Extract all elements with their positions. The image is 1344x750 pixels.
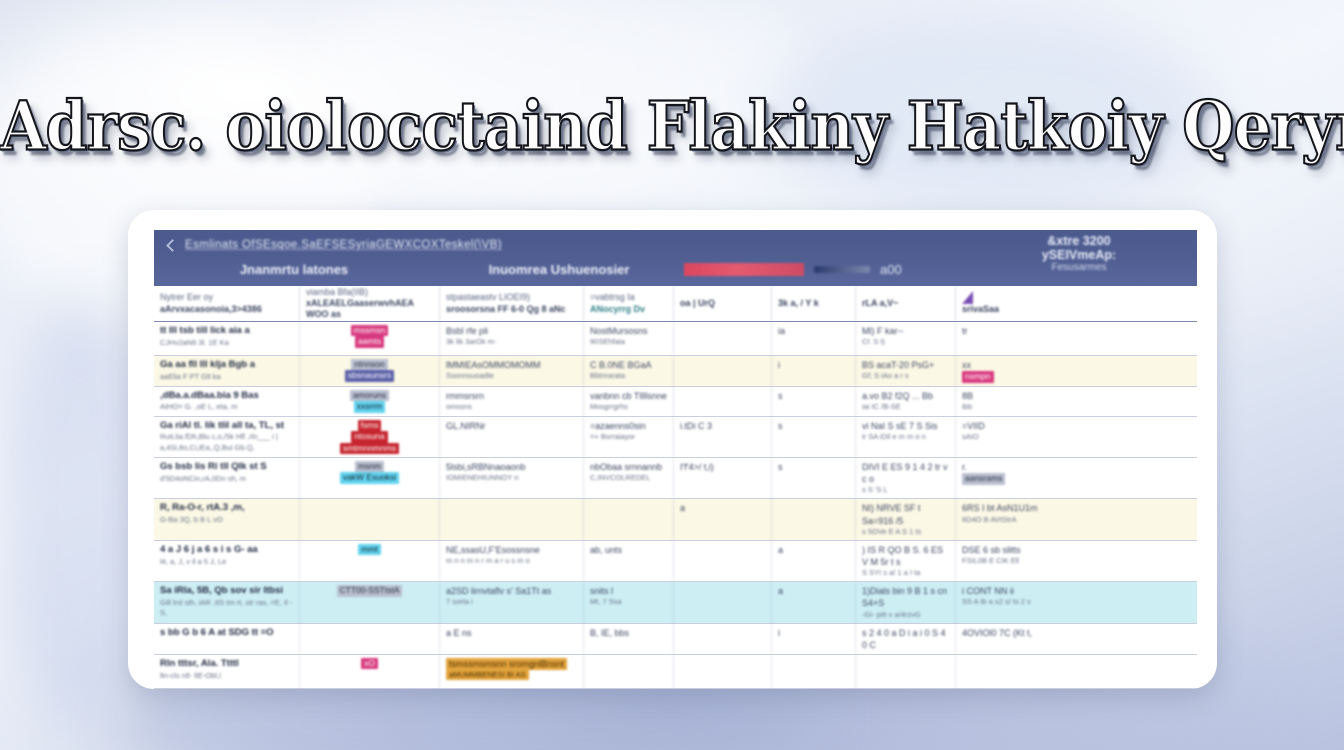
cell-highlight-chip: amoruns [350,390,389,401]
table-cell: NE,ssasU,F'Esossnsnem n n m n r m a r u … [440,541,584,581]
header-info-line1: &xtre 3200 [979,234,1179,248]
table-cell: r.aansrams [956,458,1096,498]
cell-highlight-chip: nsmpn [962,371,994,382]
cell-secondary-text: 6D4O B AVtStrA [962,515,1090,525]
table-row[interactable]: Ga riAl tl. lik tlil all ta, TL, stRuti,… [154,417,1197,458]
cell-primary-text: 5lsbi,sRBNnaoaonb [446,461,577,473]
table-cell: s [772,417,856,457]
cell-primary-text: DSE 6 sb slitts [962,544,1090,556]
column-header-1[interactable]: viamba Bfa(IIB)xALEAELGaaserwvhAEA WOO a… [300,286,440,321]
table-row[interactable]: s bb G b 6 A at SDG tt =Oa E nsB, IE, bb… [154,624,1197,655]
background-glow-2 [300,0,820,210]
column-header-3[interactable]: =vabtrsg IaANocyrrg Dv [584,286,674,321]
table-cell: Rln tttsr, Ala. Ttttlltn-cls ntl- ltE-Ob… [154,655,300,688]
cell-secondary-text: 3k lik 3arOk m- [446,337,577,347]
cell-primary-text: rmmsrsrn [446,390,577,402]
table-cell [584,499,674,539]
cell-primary-text: vanbnn cb Tllllsnne [590,390,667,402]
table-cell: 8Bibb [956,387,1096,416]
badge-progress-bar [814,266,870,273]
table-cell [674,387,772,416]
table-cell: i.tDi C 3 [674,417,772,457]
table-cell [674,624,772,654]
table-row[interactable]: 4 a J 6 j a 6 s i s G- aal4, a, J, v il … [154,541,1197,582]
column-header-line2: sroosorsna FF 6-0 Qg 8 aNc [446,304,577,315]
table-cell [674,582,772,622]
column-header-line2: srivaSaa [962,304,1090,315]
cell-highlight-chip: smtmnnmnms [340,443,399,454]
badge-value: a00 [880,262,902,277]
table-cell: nbObaa srnnannbC,INVCOLREDEL [584,458,674,498]
page-title: Adrsc. oiolocctaind Flakiny Hatkoiy Qery… [0,88,1344,166]
cell-secondary-text: IOMIENEHIUNNOY n [446,473,577,483]
cell-primary-text: NE,ssasU,F'Esossnsne [446,544,577,556]
column-header-line2: xALEAELGaaserwvhAEA WOO as [306,298,433,321]
cell-secondary-text: aMUMMBENESI BI AS [446,670,577,680]
cell-secondary-text: sAIO [962,432,1090,442]
table-cell: a [674,499,772,539]
cell-primary-text: Ga riAl tl. lik tlil all ta, TL, st [160,420,293,433]
table-cell: Gs bsb lis Ri tll QIk st Sd'5D4oNCin,rA,… [154,458,300,498]
table-cell: xO [300,655,440,688]
cell-secondary-text: Gf; S iAo a r s [862,371,949,381]
cell-primary-text: Gs bsb lis Ri tll QIk st S [160,461,293,474]
table-cell: NI) NRVE SF t Sa=916 /5s 5OVe E A S 1 ts [856,499,956,539]
cell-primary-text: i [778,627,849,639]
cell-secondary-text: CJHv2aN6 3l. 1E Ka [160,338,293,348]
cell-highlight-chip: mmt [358,544,381,555]
table-cell: R, Ra-O-r, rtA.3 ,m,G-Ba 3Q, b B L vO [154,499,300,539]
cell-highlight-chip: sbsnaunsrs [345,370,394,381]
cell-primary-text: ia [778,325,849,337]
table-cell: ,dBa.a.dBaa.bia 9 BasAtHO= G. ,oE L, eta… [154,387,300,416]
background-glow-3 [760,10,1220,220]
cell-primary-text: vi NaI S sE 7 S Sis [862,420,949,432]
cell-secondary-text: s S 'S L [862,485,949,495]
table-cell: ab, unts [584,541,674,581]
table-row[interactable]: Ga aa fll lll klja Bgb aaaElia F PT Glt … [154,356,1197,387]
cell-secondary-text: Gill lrsl sth, iAR ,ttS tm rt, str ras, … [160,598,293,618]
cell-primary-text: xx [962,359,1090,371]
column-header-line2: 3k a, / Y k [778,298,849,309]
cell-primary-text: NI) NRVE SF t Sa=916 /5 [862,502,949,526]
header-info-line2: ySEIVmeAp: [979,248,1179,262]
column-header-4[interactable]: oa | UrQ [674,286,772,321]
table-cell: s bb G b 6 A at SDG tt =O [154,624,300,654]
table-cell: a [772,541,856,581]
table-cell: snits lMt, 7 Ssa [584,582,674,622]
cell-secondary-text: 7 sorta i [446,597,577,607]
table-cell: BS acaT-20 PsG+Gf; S iAo a r s [856,356,956,386]
cell-secondary-text: l4, a, J, v il a 5 J, Le [160,557,293,567]
card-inner: Esmlinats OfSEsqoe.SaEFSESyriaGEWXCOXTes… [154,230,1197,673]
column-header-line2: rLA a,V~ [862,298,949,309]
table-cell: msnmvakW Esuoksi [300,458,440,498]
table-cell: GL.NIRNr [440,417,584,457]
table-cell: i [772,624,856,654]
cell-secondary-text: m n n m n r m a r u s m o [446,556,577,566]
table-cell [674,541,772,581]
cell-primary-text: B, IE, bbs [590,627,667,639]
table-cell [772,655,856,688]
app-header-bar: Esmlinats OfSEsqoe.SaEFSESyriaGEWXCOXTes… [154,230,1197,286]
table-cell: a [772,582,856,622]
table-cell [300,499,440,539]
table-cell: mssmsnaamts [300,322,440,355]
table-row[interactable]: R, Ra-O-r, rtA.3 ,m,G-Ba 3Q, b B L vOaNI… [154,499,1197,540]
cell-primary-text: DIVI E ES 9 1 4 2 tr v c o [862,461,949,485]
table-cell: NostMursosns90SEhfata [584,322,674,355]
cell-secondary-text: G-Ba 3Q, b B L vO [160,515,293,525]
cell-primary-text: NostMursosns [590,325,667,337]
table-cell: 4OVIOl0 7C (Kt t, [956,624,1096,654]
cell-primary-text: a.vo B2 f2Q ... Bb [862,390,949,402]
table-cell: a2SD lirnvtaflv s' Sa1Tt as7 sorta i [440,582,584,622]
table-cell: Ga riAl tl. lik tlil all ta, TL, stRuti,… [154,417,300,457]
cell-secondary-text: ltn-cls ntl- ltE-Obl,I [160,671,293,681]
cell-primary-text: 1)Dials bin 9 B 1 s cn S4+S [862,585,949,609]
cell-primary-text: 8B [962,390,1090,402]
table-row[interactable]: tt Ill tsb till lick aia aCJHv2aN6 3l. 1… [154,322,1197,356]
column-header-line2: ANocyrrg Dv [590,304,667,315]
table-row[interactable]: Rln tttsr, Ala. Ttttlltn-cls ntl- ltE-Ob… [154,655,1197,689]
table-cell: lMMIEAsOMMOMOMMSsonnsuoadte [440,356,584,386]
cell-primary-text: lMMIEAsOMMOMOMM [446,359,577,371]
table-cell [956,655,1096,688]
column-header-2[interactable]: stpastaeastv LIOEI9)sroosorsna FF 6-0 Qg… [440,286,584,321]
table-cell [440,499,584,539]
breadcrumb[interactable]: Esmlinats OfSEsqoe.SaEFSESyriaGEWXCOXTes… [185,239,502,251]
table-cell: tt Ill tsb till lick aia aCJHv2aN6 3l. 1… [154,322,300,355]
cell-highlight-chip: aamts [355,336,384,347]
cell-secondary-text: ibb [962,402,1090,412]
cell-primary-text: s [778,420,849,432]
cell-primary-text: =azaenns0sin [590,420,667,432]
cell-secondary-text: Ssonnsuoadte [446,371,577,381]
cell-primary-text: ab, unts [590,544,667,556]
column-header-line1: viamba Bfa(IIB) [306,287,433,298]
table-cell: Sa iRla, 5B, Qb sov sir ltbsiGill lrsl s… [154,582,300,622]
table-cell: vanbnn cb TllllsnneMosgrrgrhs [584,387,674,416]
cell-secondary-text: Cl: S t) [862,337,949,347]
cell-primary-text: Ga aa fll lll klja Bgb a [160,359,293,372]
cell-highlight-chip: aansrams [962,473,1005,484]
cell-secondary-text: Mt, 7 Ssa [590,597,667,607]
cell-primary-text: a2SD lirnvtaflv s' Sa1Tt as [446,585,577,597]
cell-primary-text: s 2 4 0 a D i a i 0 S 4 0 C [862,627,949,651]
cell-secondary-text: d'5D4oNCin,rA,0Dn sh, m [160,474,293,484]
table-cell: B, IE, bbs [584,624,674,654]
table-cell: s 2 4 0 a D i a i 0 S 4 0 C [856,624,956,654]
table-cell [772,499,856,539]
cell-secondary-text: =+ Bsrraiayor [590,432,667,442]
column-header-line1: =vabtrsg Ia [590,292,667,303]
table-cell: i CONT NN iiSS A Ib a s2 s/ ts 2 v [956,582,1096,622]
cell-primary-text: r. [962,461,1090,473]
table-cell [300,624,440,654]
cell-secondary-text: AtHO= G. ,oE L, eta, m [160,402,293,412]
table-column-headers: Nytrer Eer oyaArvxacasonoia,3>4386viamba… [154,286,1197,322]
cell-secondary-text: ir SA iDil e m m o n [862,432,949,442]
cell-secondary-text: FSIL0B E CIK Ell [962,556,1090,566]
cell-primary-text: a [778,585,849,597]
status-badge[interactable] [684,263,804,276]
cell-primary-text: 6RS I bt AsN1U1m [962,502,1090,514]
column-header-7[interactable]: srivaSaa [956,286,1096,321]
column-header-0[interactable]: Nytrer Eer oyaArvxacasonoia,3>4386 [154,286,300,321]
cell-primary-text: Bsbl rfe pli [446,325,577,337]
header-badge-slot: a00 [684,262,914,277]
cell-primary-text: snits l [590,585,667,597]
table-cell: =azaenns0sin=+ Bsrraiayor [584,417,674,457]
table-cell: DSE 6 sb slittsFSIL0B E CIK Ell [956,541,1096,581]
triangle-sort-icon [962,291,973,304]
table-cell [674,655,772,688]
table-cell: a.vo B2 f2Q ... Bbiai IC /B-SE [856,387,956,416]
table-cell [856,655,956,688]
cell-secondary-text: Bbtnrarata [590,371,667,381]
data-table: Nytrer Eer oyaArvxacasonoia,3>4386viamba… [154,286,1197,689]
table-cell [584,655,674,688]
cell-highlight-chip: CTT00-SSTtstA [337,585,403,596]
table-cell: 5lsbi,sRBNnaoaonbIOMIENEHIUNNOY n [440,458,584,498]
cell-primary-text: i CONT NN ii [962,585,1090,597]
cell-primary-text: Ml) F kar-- [862,325,949,337]
cell-primary-text: a E ns [446,627,577,639]
table-row[interactable]: Sa iRla, 5B, Qb sov sir ltbsiGill lrsl s… [154,582,1197,623]
column-header-5[interactable]: 3k a, / Y k [772,286,856,321]
cell-primary-text: R, Ra-O-r, rtA.3 ,m, [160,502,293,515]
table-cell [674,356,772,386]
table-cell: Ml) F kar--Cl: S t) [856,322,956,355]
page-title-wrap: Adrsc. oiolocctaind Flakiny Hatkoiy Qery… [0,92,1344,162]
cell-primary-text: ,dBa.a.dBaa.bia 9 Bas [160,390,293,403]
table-cell: amorunsxxsrrm [300,387,440,416]
table-row[interactable]: ,dBa.a.dBaa.bia 9 BasAtHO= G. ,oE L, eta… [154,387,1197,417]
table-cell: =VIIDsAIO [956,417,1096,457]
table-cell [674,322,772,355]
cell-secondary-text: -Gi- pitt v a/4rzvG [862,610,949,620]
cell-highlight-chip: msnm [355,461,384,472]
column-header-6[interactable]: rLA a,V~ [856,286,956,321]
cell-primary-text: s [778,461,849,473]
table-cell: C B.0NE BGaABbtnrarata [584,356,674,386]
column-header-line1: Nytrer Eer oy [160,292,293,303]
cell-primary-text: i [778,359,849,371]
cell-secondary-text: 90SEhfata [590,337,667,347]
column-header-line2: aArvxacasonoia,3>4386 [160,304,293,315]
cell-primary-text: tr [962,325,1090,337]
table-cell: fsmsntosunasmtmnnmnms [300,417,440,457]
column-header-line2: oa | UrQ [680,298,765,309]
cell-secondary-text: Ruti,lia.fDh,Blu c,o,/5k Hfl ,rln___ i |… [160,432,293,452]
cell-highlight-chip: ntosuna [351,431,387,442]
cell-highlight-chip: ntnnson [351,359,387,370]
cell-primary-text: tt Ill tsb till lick aia a [160,325,293,338]
column-header-line1: stpastaeastv LIOEI9) [446,292,577,303]
cell-primary-text: i.tDi C 3 [680,420,765,432]
cell-highlight-chip: vakW Esuoksi [340,472,399,483]
cell-primary-text: a [680,502,765,514]
cell-primary-text: a [778,544,849,556]
table-cell: I'f'4>/ t,i) [674,458,772,498]
table-row[interactable]: Gs bsb lis Ri tll QIk st Sd'5D4oNCin,rA,… [154,458,1197,499]
header-right-info: &xtre 3200 ySEIVmeAp: Fesusarmes [979,234,1179,273]
table-cell: CTT00-SSTtstA [300,582,440,622]
table-cell: 1)Dials bin 9 B 1 s cn S4+S-Gi- pitt v a… [856,582,956,622]
cell-primary-text: GL.NIRNr [446,420,577,432]
cell-secondary-text: aaElia F PT Glt ka [160,372,293,382]
cell-primary-text: =VIID [962,420,1090,432]
cell-highlight-chip: mssmsn [351,325,389,336]
cell-primary-text: tsmssmsmsnn sromgnlBnsnt [446,658,577,670]
table-cell: 6RS I bt AsN1U1m6D4O B AVtStrA [956,499,1096,539]
main-card: Esmlinats OfSEsqoe.SaEFSESyriaGEWXCOXTes… [128,210,1217,689]
cell-primary-text: ) IS R QO B S. 6 ES V M 5r t s [862,544,949,568]
cell-primary-text: s bb G b 6 A at SDG tt =O [160,627,293,640]
back-chevron-icon[interactable] [166,239,179,252]
cell-primary-text: Rln tttsr, Ala. Ttttl [160,658,293,671]
cell-primary-text: s [778,390,849,402]
cell-primary-text: nbObaa srnnannb [590,461,667,473]
table-cell: xxnsmpn [956,356,1096,386]
table-cell: ntnnsonsbsnaunsrs [300,356,440,386]
table-cell: s [772,458,856,498]
table-cell: Bsbl rfe pli3k lik 3arOk m- [440,322,584,355]
table-cell: tsmssmsmsnn sromgnlBnsntaMUMMBENESI BI A… [440,655,584,688]
cell-secondary-text: iai IC /B-SE [862,402,949,412]
cell-primary-text: C B.0NE BGaA [590,359,667,371]
cell-secondary-text: C,INVCOLREDEL [590,473,667,483]
cell-highlight-chip: xO [361,658,378,669]
cell-secondary-text: s 5OVe E A S 1 ts [862,527,949,537]
cell-primary-text: 4 a J 6 j a 6 s i s G- aa [160,544,293,557]
table-cell: ) IS R QO B S. 6 ES V M 5r t sS SYI s a/… [856,541,956,581]
cell-primary-text: BS acaT-20 PsG+ [862,359,949,371]
table-cell: a E ns [440,624,584,654]
cell-primary-text: 4OVIOl0 7C (Kt t, [962,627,1090,639]
table-body: tt Ill tsb till lick aia aCJHv2aN6 3l. 1… [154,322,1197,689]
table-cell: ia [772,322,856,355]
cell-primary-text: I'f'4>/ t,i) [680,461,765,473]
cell-secondary-text: Mosgrrgrhs [590,402,667,412]
table-cell: DIVI E ES 9 1 4 2 tr v c os S 'S L [856,458,956,498]
table-cell: Ga aa fll lll klja Bgb aaaElia F PT Glt … [154,356,300,386]
cell-primary-text: Sa iRla, 5B, Qb sov sir ltbsi [160,585,293,598]
tab-jnanmrtu-latones[interactable]: Jnanmrtu latones [154,262,434,277]
table-cell: vi NaI S sE 7 S Sisir SA iDil e m m o n [856,417,956,457]
table-cell: s [772,387,856,416]
table-cell: 4 a J 6 j a 6 s i s G- aal4, a, J, v il … [154,541,300,581]
table-cell: tr [956,322,1096,355]
cell-secondary-text: S SYI s a/ 1 a I ta [862,568,949,578]
cell-highlight-chip: xxsrrm [354,401,386,412]
table-cell: rmmsrsrnomssns [440,387,584,416]
cell-secondary-text: omssns [446,402,577,412]
cell-highlight-chip: fsms [358,420,382,431]
cell-secondary-text: SS A Ib a s2 s/ ts 2 v [962,597,1090,607]
table-cell: i [772,356,856,386]
header-info-line3: Fesusarmes [979,262,1179,273]
table-cell: mmt [300,541,440,581]
tab-inuomrea-ushuenosier[interactable]: Inuomrea Ushuenosier [434,262,684,277]
